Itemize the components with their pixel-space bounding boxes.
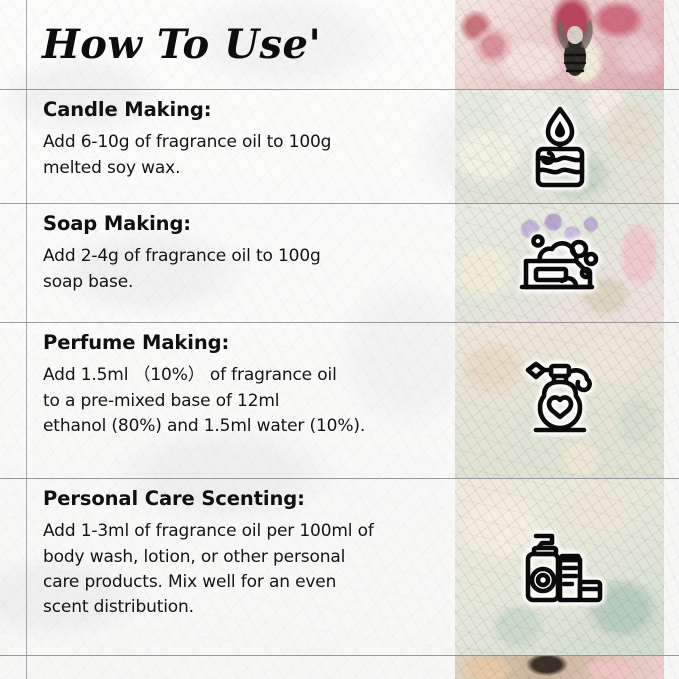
section-personal-care-scenting: Personal Care Scenting: Add 1-3ml of fra…: [26, 479, 455, 620]
page-title: How To Use': [26, 25, 321, 65]
bee-illustration: [547, 5, 603, 83]
section-heading: Perfume Making:: [43, 332, 445, 354]
header: How To Use': [26, 0, 455, 89]
botanical-photo-strip: [455, 0, 664, 679]
divider-rule-5: [0, 655, 679, 656]
photo-segment-sage-leaves: [455, 478, 664, 655]
section-soap-making: Soap Making: Add 2-4g of fragrance oil t…: [26, 204, 455, 295]
section-heading: Soap Making:: [43, 213, 445, 235]
section-heading: Personal Care Scenting:: [43, 488, 445, 510]
right-page-margin: [664, 0, 679, 679]
section-candle-making: Candle Making: Add 6-10g of fragrance oi…: [26, 90, 455, 181]
how-to-use-infographic: How To Use' Candle Making: Add 6-10g of …: [0, 0, 679, 679]
photo-segment-greens: [455, 89, 664, 203]
photo-segment-books-florals: [455, 655, 664, 679]
section-heading: Candle Making:: [43, 99, 445, 121]
section-body: Add 2-4g of fragrance oil to 100g soap b…: [43, 244, 445, 294]
section-body: Add 6-10g of fragrance oil to 100g melte…: [43, 130, 445, 180]
photo-segment-roses-bee: [455, 0, 664, 89]
section-body: Add 1.5ml （10%） of fragrance oil to a pr…: [43, 363, 445, 438]
section-body: Add 1-3ml of fragrance oil per 100ml of …: [43, 519, 445, 620]
photo-segment-warm-beige: [455, 322, 664, 478]
photo-segment-lilac-berries: [455, 203, 664, 322]
section-perfume-making: Perfume Making: Add 1.5ml （10%） of fragr…: [26, 323, 455, 439]
